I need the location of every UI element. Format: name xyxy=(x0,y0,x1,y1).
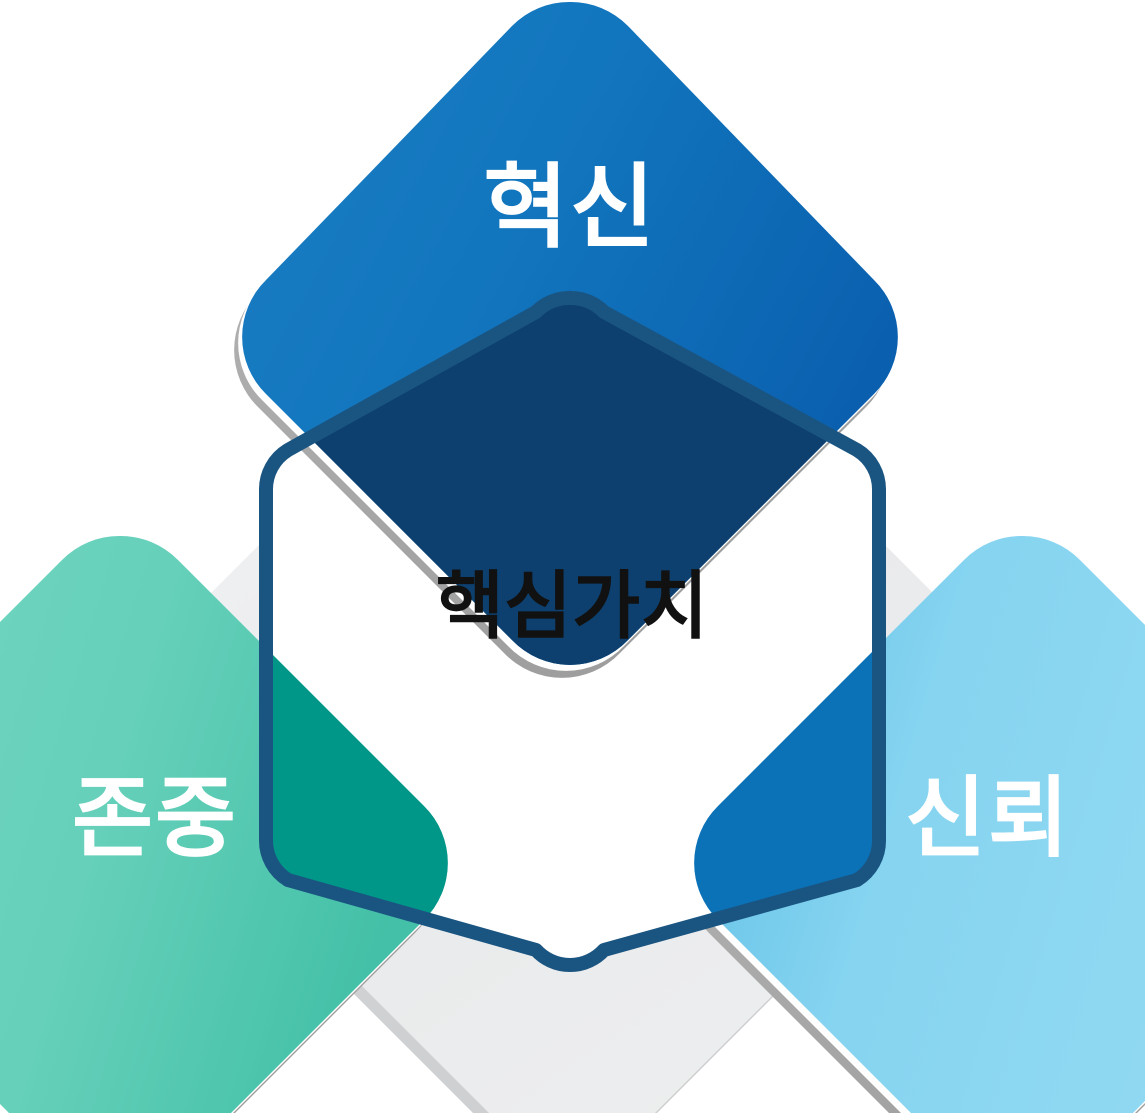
diagram-canvas: 혁신 존중 신뢰 핵심가치 xyxy=(0,0,1145,1113)
trust-label: 신뢰 xyxy=(905,769,1071,868)
innovation-label: 혁신 xyxy=(483,157,656,259)
center-label: 핵심가치 xyxy=(436,565,708,648)
core-values-diagram: 혁신 존중 신뢰 핵심가치 xyxy=(0,0,1145,1113)
respect-label: 존중 xyxy=(72,769,238,868)
